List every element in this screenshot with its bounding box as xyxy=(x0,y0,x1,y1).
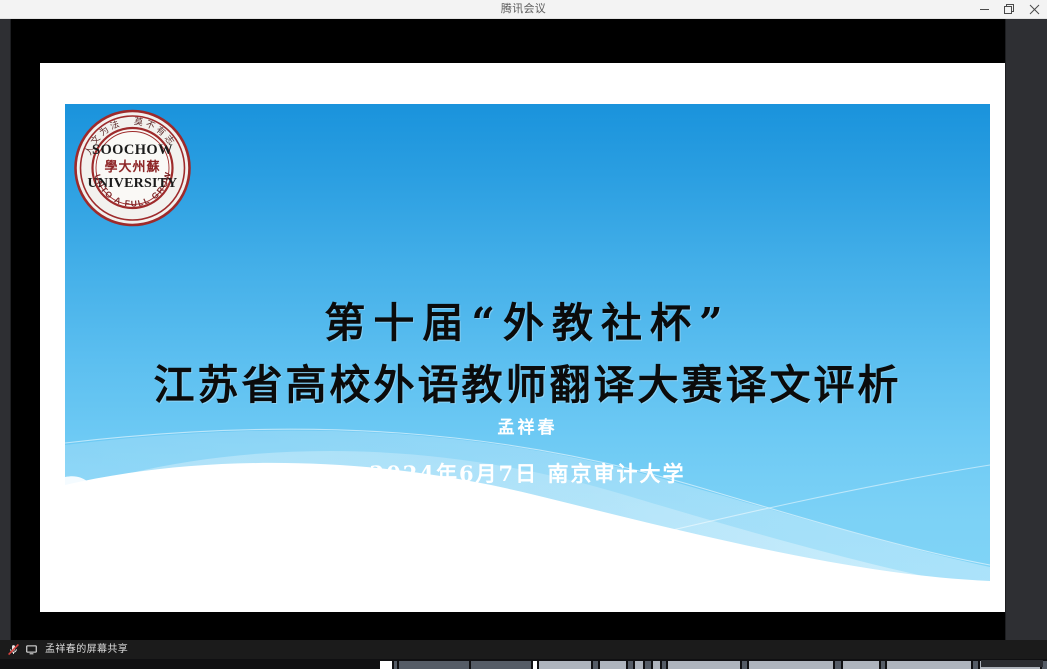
screen-share-icon[interactable] xyxy=(24,642,39,657)
shared-screen-stage: 人文为法 莫不有志 UNTO A FULL GROWN MAN SOOCHOW … xyxy=(0,19,1047,640)
taskbar-item[interactable] xyxy=(533,661,537,669)
slide-text-block: 第十届“外教社杯” 江苏省高校外语教师翻译大赛译文评析 孟祥春 2024年6月7… xyxy=(65,104,990,599)
taskbar-item[interactable] xyxy=(380,661,392,669)
meeting-right-rail[interactable] xyxy=(1005,19,1047,640)
taskbar-item[interactable] xyxy=(668,661,740,669)
taskbar-items[interactable] xyxy=(0,661,1047,669)
window-title: 腾讯会议 xyxy=(0,0,1047,19)
screen-share-label: 孟祥春的屏幕共享 xyxy=(45,640,128,659)
slide-venue-date: 2024年6月7日 南京审计大学 xyxy=(65,458,990,488)
mic-muted-icon[interactable] xyxy=(6,642,21,657)
taskbar-item[interactable] xyxy=(539,661,591,669)
slide-title-line-1: 第十届“外教社杯” xyxy=(65,289,990,349)
taskbar-item[interactable] xyxy=(600,661,626,669)
taskbar-item[interactable] xyxy=(593,661,598,669)
presentation-slide: 人文为法 莫不有志 UNTO A FULL GROWN MAN SOOCHOW … xyxy=(65,104,990,599)
taskbar-tray[interactable] xyxy=(981,660,1043,667)
slide-author: 孟祥春 xyxy=(65,413,990,438)
taskbar-item[interactable] xyxy=(645,661,651,669)
taskbar-item[interactable] xyxy=(628,661,633,669)
os-taskbar[interactable] xyxy=(0,659,1047,669)
taskbar-item[interactable] xyxy=(887,661,971,669)
taskbar-item[interactable] xyxy=(394,661,397,669)
close-button[interactable] xyxy=(1022,0,1047,19)
minimize-button[interactable] xyxy=(972,0,997,19)
taskbar-item[interactable] xyxy=(835,661,841,669)
taskbar-item[interactable] xyxy=(662,661,666,669)
taskbar-item[interactable] xyxy=(973,661,978,669)
slide-title-line-2: 江苏省高校外语教师翻译大赛译文评析 xyxy=(65,351,990,411)
taskbar-item[interactable] xyxy=(749,661,833,669)
tencent-meeting-window: 腾讯会议 xyxy=(0,0,1047,669)
taskbar-item[interactable] xyxy=(399,661,469,669)
restore-button[interactable] xyxy=(997,0,1022,19)
meeting-bottom-bar: 孟祥春的屏幕共享 xyxy=(0,640,1047,659)
stage-bottom-letterbox xyxy=(11,612,1005,640)
taskbar-item[interactable] xyxy=(843,661,879,669)
taskbar-item[interactable] xyxy=(635,661,643,669)
meeting-left-rail[interactable] xyxy=(0,19,11,640)
taskbar-item[interactable] xyxy=(653,661,660,669)
window-controls xyxy=(972,0,1047,19)
window-titlebar[interactable]: 腾讯会议 xyxy=(0,0,1047,19)
taskbar-item[interactable] xyxy=(881,661,885,669)
taskbar-item[interactable] xyxy=(742,661,747,669)
taskbar-item[interactable] xyxy=(471,661,531,669)
stage-top-letterbox xyxy=(11,19,1005,63)
